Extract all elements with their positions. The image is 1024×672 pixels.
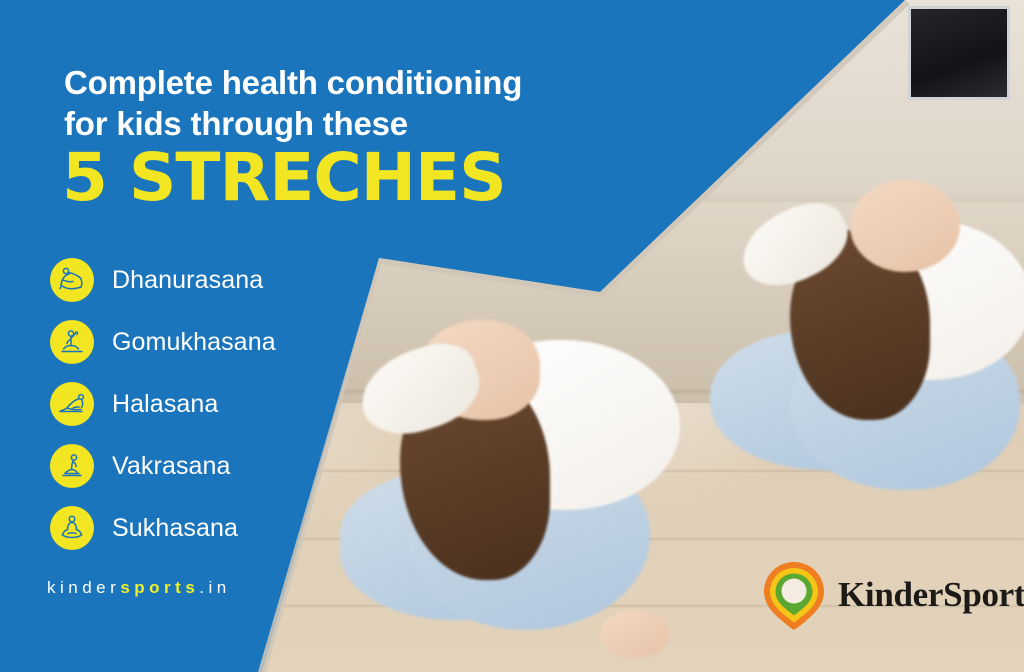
tv-screen (908, 6, 1010, 100)
site-wordmark-part2: sports (120, 578, 199, 597)
site-wordmark[interactable]: kindersports.in (47, 578, 231, 598)
list-item-label: Dhanurasana (112, 266, 263, 295)
yoga-plow-pose-icon (50, 382, 94, 426)
list-item[interactable]: Dhanurasana (50, 249, 276, 311)
list-item-label: Gomukhasana (112, 328, 276, 357)
list-item-label: Vakrasana (112, 452, 231, 481)
list-item[interactable]: Sukhasana (50, 497, 276, 559)
site-wordmark-part3: .in (199, 578, 230, 597)
kindersports-logo[interactable]: KinderSports™ (760, 560, 1024, 630)
yoga-cow-face-pose-icon (50, 320, 94, 364)
poster: Complete health conditioning for kids th… (0, 0, 1024, 672)
list-item-label: Sukhasana (112, 514, 238, 543)
page-title: Complete health conditioning for kids th… (64, 63, 624, 144)
child-front (300, 300, 720, 660)
logo-name: KinderSports (838, 575, 1024, 614)
kindersports-pin-logo-icon (760, 560, 828, 630)
site-wordmark-part1: kinder (47, 578, 120, 597)
list-item[interactable]: Halasana (50, 373, 276, 435)
list-item-label: Halasana (112, 390, 218, 419)
yoga-twist-pose-icon (50, 444, 94, 488)
yoga-bow-pose-icon (50, 258, 94, 302)
list-item[interactable]: Vakrasana (50, 435, 276, 497)
logo-text: KinderSports™ (838, 575, 1024, 615)
child-back (700, 200, 1024, 540)
list-item[interactable]: Gomukhasana (50, 311, 276, 373)
headline-emphasis: 5 STRECHES (62, 145, 506, 211)
stretch-list: Dhanurasana Gomukhasana (50, 249, 276, 559)
yoga-lotus-pose-icon (50, 506, 94, 550)
headline-line-1: Complete health conditioning (64, 64, 522, 101)
